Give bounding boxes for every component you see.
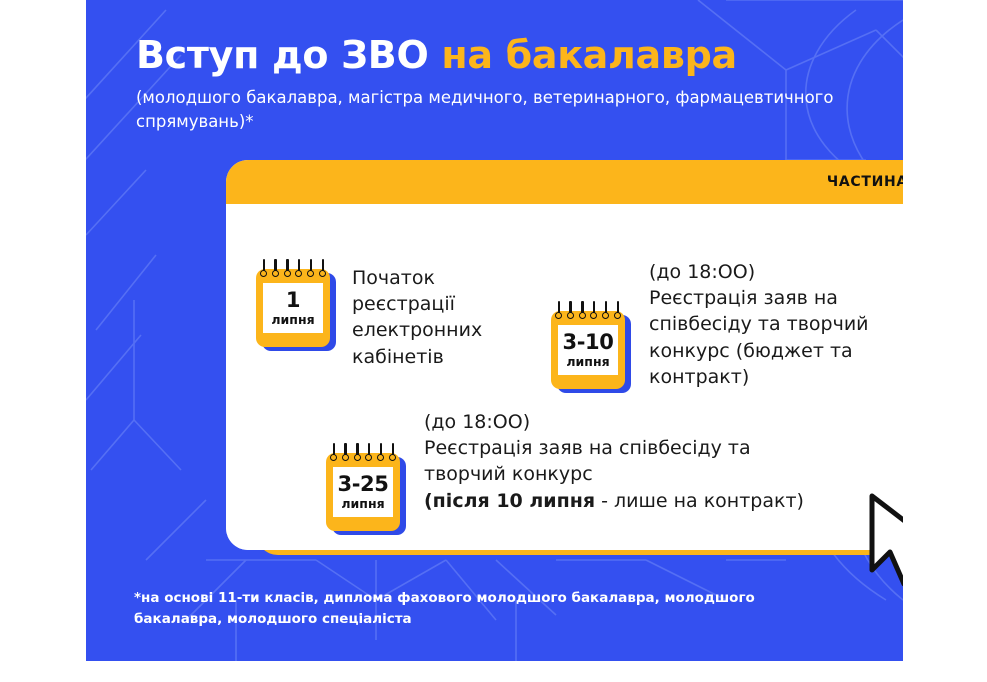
entry-note-regular: - лише на контракт) (595, 490, 804, 512)
calendar-rings (555, 301, 621, 323)
entry-text-line: конкурс (бюджет та (649, 338, 894, 364)
calendar-day: 3-10 (563, 332, 614, 353)
calendar-ring-icon (342, 443, 349, 465)
calendar-month: липня (271, 314, 314, 327)
calendar-ring-icon (272, 259, 279, 281)
entry-note-bold: (після 10 липня (424, 490, 595, 512)
title-accent: на бакалавра (441, 33, 737, 77)
calendar-rings (260, 259, 326, 281)
calendar-page: 1 липня (263, 283, 323, 333)
entry-text-line: (до 18:ОО) (424, 409, 854, 435)
entry-text: Початок реєстрації електронних кабінетів (352, 259, 527, 370)
entry-text-line: співбесіду та творчий (649, 311, 894, 337)
calendar-ring-icon (319, 259, 326, 281)
calendar-ring-icon (567, 301, 574, 323)
calendar-rings (330, 443, 396, 465)
entry-text-line: Реєстрація заяв на співбесіду та (424, 435, 854, 461)
calendar-ring-icon (284, 259, 291, 281)
calendar-icon: 1 липня (256, 259, 336, 354)
card-header-bar: ЧАСТИНА 1 (226, 160, 903, 204)
calendar-month: липня (341, 498, 384, 511)
entry-text-line: (до 18:ОО) (649, 259, 894, 285)
poster-panel: Вступ до ЗВО на бакалавра (молодшого бак… (86, 0, 903, 661)
calendar-ring-icon (377, 443, 384, 465)
calendar-ring-icon (330, 443, 337, 465)
entry-text-line: творчий конкурс (424, 461, 854, 487)
page-subtitle: (молодшого бакалавра, магістра медичного… (136, 86, 836, 134)
footnote-line-1: *на основі 11-ти класів, диплома фаховог… (134, 590, 755, 606)
calendar-ring-icon (260, 259, 267, 281)
entry-text-line: Реєстрація заяв на (649, 285, 894, 311)
card-body: 1 липня Початок реєстрації електронних к… (226, 204, 903, 550)
poster-root: Вступ до ЗВО на бакалавра (молодшого бак… (0, 0, 987, 682)
calendar-icon: 3-25 липня (326, 443, 406, 538)
list-item: 1 липня Початок реєстрації електронних к… (256, 259, 527, 370)
part-badge: ЧАСТИНА 1 (827, 174, 903, 190)
calendar-ring-icon (555, 301, 562, 323)
calendar-month: липня (566, 356, 609, 369)
entry-text-line: кабінетів (352, 344, 527, 370)
calendar-ring-icon (307, 259, 314, 281)
list-item: 3-25 липня (до 18:ОО) Реєстрація заяв на… (326, 409, 854, 538)
calendar-day: 1 (286, 290, 300, 311)
content-card: ЧАСТИНА 1 (226, 160, 903, 550)
calendar-day: 3-25 (338, 474, 389, 495)
entry-text-note: (після 10 липня - лише на контракт) (424, 488, 854, 514)
calendar-ring-icon (579, 301, 586, 323)
calendar-page: 3-25 липня (333, 467, 393, 517)
calendar-ring-icon (354, 443, 361, 465)
calendar-ring-icon (365, 443, 372, 465)
entry-text-line: реєстрації (352, 291, 527, 317)
calendar-ring-icon (295, 259, 302, 281)
footnote: *на основі 11-ти класів, диплома фаховог… (134, 588, 814, 630)
entry-text: (до 18:ОО) Реєстрація заяв на співбесіду… (649, 259, 894, 390)
page-title: Вступ до ЗВО на бакалавра (136, 36, 876, 76)
calendar-icon: 3-10 липня (551, 301, 631, 396)
calendar-ring-icon (602, 301, 609, 323)
mouse-pointer-icon (866, 492, 903, 590)
calendar-ring-icon (389, 443, 396, 465)
list-item: 3-10 липня (до 18:ОО) Реєстрація заяв на… (551, 259, 894, 396)
footnote-line-2: бакалавра, молодшого спеціаліста (134, 611, 412, 627)
calendar-ring-icon (590, 301, 597, 323)
subtitle-line-1: (молодшого бакалавра, магістра медичного… (136, 88, 670, 107)
entry-text-line: контракт) (649, 364, 894, 390)
entry-text-line: Початок (352, 265, 527, 291)
entry-text: (до 18:ОО) Реєстрація заяв на співбесіду… (424, 409, 854, 514)
calendar-ring-icon (614, 301, 621, 323)
entry-text-line: електронних (352, 317, 527, 343)
calendar-page: 3-10 липня (558, 325, 618, 375)
title-main: Вступ до ЗВО (136, 33, 441, 77)
